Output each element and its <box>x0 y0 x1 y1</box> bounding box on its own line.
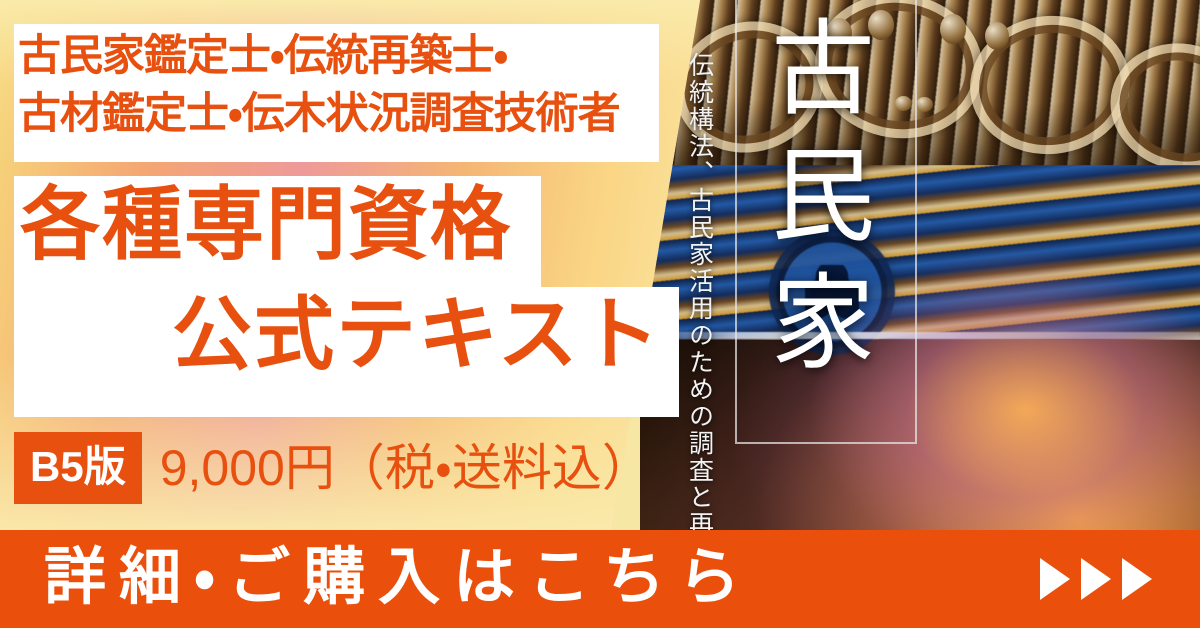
triangle-right-icon <box>1040 558 1070 600</box>
book-cover-photo: 古 民 家 伝統構法、古民家活用のための調査と再生の <box>640 0 1200 540</box>
certification-line-1: 古民家鑑定士・伝統再築士・ <box>18 28 658 86</box>
book-title-char-3: 家 <box>748 262 900 389</box>
price-row: B5版 9,000円（税・送料込） <box>14 432 652 504</box>
book-subtitle: 伝統構法、古民家活用のための調査と再生の <box>680 52 717 522</box>
carving-bead <box>985 22 1009 50</box>
book-title-char-2: 民 <box>748 135 900 262</box>
format-badge: B5版 <box>14 432 142 504</box>
triangle-right-icon <box>1081 558 1111 600</box>
price-text: 9,000円（税・送料込） <box>160 443 652 493</box>
carving-bead <box>940 14 966 44</box>
headline-line-2: 公式テキスト <box>172 293 662 378</box>
book-title-char-1: 古 <box>748 8 900 135</box>
book-title: 古 民 家 <box>748 8 900 389</box>
cta-arrows <box>1040 558 1152 600</box>
certification-line-2: 古材鑑定士・伝木状況調査技術者 <box>18 86 658 144</box>
carving-bead <box>916 97 933 112</box>
cta-label[interactable]: 詳細・ご購入はこちら <box>44 547 753 609</box>
triangle-right-icon <box>1122 558 1152 600</box>
promo-banner: 古 民 家 伝統構法、古民家活用のための調査と再生の 古民家鑑定士・伝統再築士・… <box>0 0 1200 628</box>
certification-list: 古民家鑑定士・伝統再築士・ 古材鑑定士・伝木状況調査技術者 <box>18 28 658 143</box>
cta-bar[interactable]: 詳細・ご購入はこちら <box>0 530 1200 628</box>
headline-line-1: 各種専門資格 <box>20 183 512 268</box>
